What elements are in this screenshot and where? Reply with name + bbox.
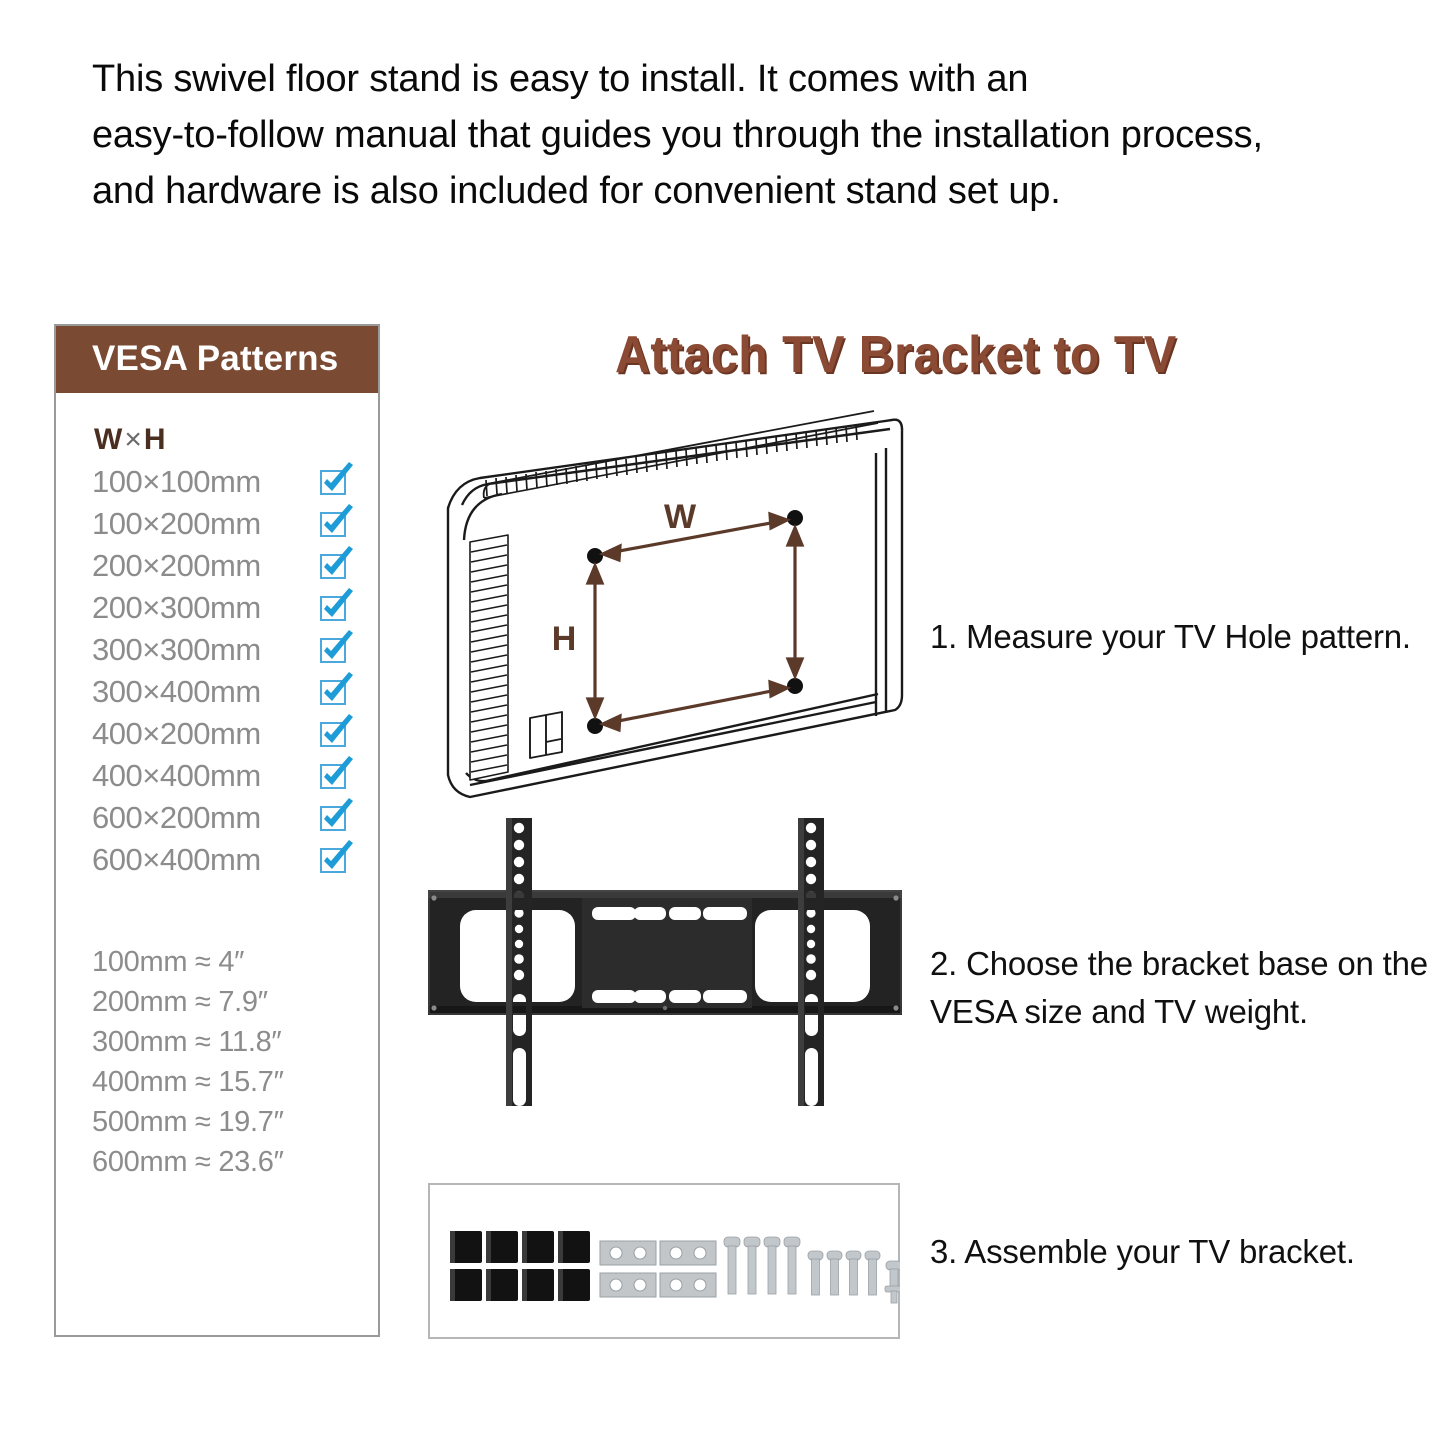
hardware-kit-image	[428, 1183, 900, 1339]
check-icon[interactable]	[320, 720, 350, 748]
vesa-pattern-label: 300×400mm	[92, 674, 261, 710]
vesa-pattern-row[interactable]: 300×300mm	[92, 632, 352, 674]
vesa-pattern-row[interactable]: 100×100mm	[92, 464, 352, 506]
vesa-pattern-label: 100×200mm	[92, 506, 261, 542]
vesa-pattern-label: 300×300mm	[92, 632, 261, 668]
step-3-line-1: 3. Assemble your TV bracket.	[930, 1228, 1355, 1276]
vesa-patterns-panel: VESA Patterns W×H 100×100mm100×200mm200×…	[54, 324, 380, 1337]
vesa-pattern-label: 100×100mm	[92, 464, 261, 500]
step-1-line-1: 1. Measure your TV Hole pattern.	[930, 613, 1411, 661]
vesa-pattern-row[interactable]: 200×200mm	[92, 548, 352, 590]
check-icon[interactable]	[320, 552, 350, 580]
vesa-panel-title: VESA Patterns	[92, 339, 338, 379]
conversion-row: 400mm ≈ 15.7″	[92, 1066, 284, 1099]
intro-line-3: and hardware is also included for conven…	[92, 164, 1392, 220]
conversion-row: 500mm ≈ 19.7″	[92, 1106, 284, 1139]
intro-line-2: easy-to-follow manual that guides you th…	[92, 108, 1392, 164]
vesa-pattern-label: 400×200mm	[92, 716, 261, 752]
conversion-row: 200mm ≈ 7.9″	[92, 986, 268, 1019]
conversion-row: 300mm ≈ 11.8″	[92, 1026, 281, 1059]
tv-bracket-image	[420, 812, 910, 1112]
vesa-pattern-label: 200×300mm	[92, 590, 261, 626]
section-title: Attach TV Bracket to TV	[615, 325, 1177, 385]
intro-line-1: This swivel floor stand is easy to insta…	[92, 52, 1392, 108]
vesa-pattern-label: 600×200mm	[92, 800, 261, 836]
check-icon[interactable]	[320, 678, 350, 706]
conversion-row: 100mm ≈ 4″	[92, 946, 244, 979]
vesa-panel-header: VESA Patterns	[56, 326, 378, 393]
vesa-pattern-row[interactable]: 400×400mm	[92, 758, 352, 800]
conversion-row: 600mm ≈ 23.6″	[92, 1146, 284, 1179]
vesa-pattern-row[interactable]: 200×300mm	[92, 590, 352, 632]
bracket-arm-right	[798, 818, 824, 1106]
vesa-pattern-row[interactable]: 600×200mm	[92, 800, 352, 842]
check-icon[interactable]	[320, 762, 350, 790]
width-label: W	[664, 498, 697, 536]
check-icon[interactable]	[320, 468, 350, 496]
check-icon[interactable]	[320, 594, 350, 622]
check-icon[interactable]	[320, 510, 350, 538]
vesa-pattern-row[interactable]: 300×400mm	[92, 674, 352, 716]
step-2-line-1: 2. Choose the bracket base on the	[930, 940, 1430, 988]
vesa-pattern-row[interactable]: 600×400mm	[92, 842, 352, 884]
vesa-pattern-label: 200×200mm	[92, 548, 261, 584]
height-label: H	[552, 620, 577, 658]
step-2-line-2: VESA size and TV weight.	[930, 988, 1430, 1036]
vesa-column-header: W×H	[94, 423, 168, 457]
check-icon[interactable]	[320, 846, 350, 874]
vesa-pattern-label: 400×400mm	[92, 758, 261, 794]
column-header-times: ×	[124, 423, 144, 456]
vesa-pattern-label: 600×400mm	[92, 842, 261, 878]
vesa-pattern-row[interactable]: 400×200mm	[92, 716, 352, 758]
column-header-w: W	[94, 423, 124, 456]
step-1-text: 1. Measure your TV Hole pattern.	[930, 613, 1411, 661]
tv-hole-pattern-diagram: W H	[440, 390, 910, 810]
column-header-h: H	[144, 423, 168, 456]
step-2-text: 2. Choose the bracket base on the VESA s…	[930, 940, 1430, 1036]
check-icon[interactable]	[320, 804, 350, 832]
check-icon[interactable]	[320, 636, 350, 664]
vesa-pattern-row[interactable]: 100×200mm	[92, 506, 352, 548]
bracket-arm-left	[506, 818, 532, 1106]
intro-paragraph: This swivel floor stand is easy to insta…	[92, 52, 1392, 220]
bracket-main-plate	[428, 890, 902, 1015]
step-3-text: 3. Assemble your TV bracket.	[930, 1228, 1355, 1276]
